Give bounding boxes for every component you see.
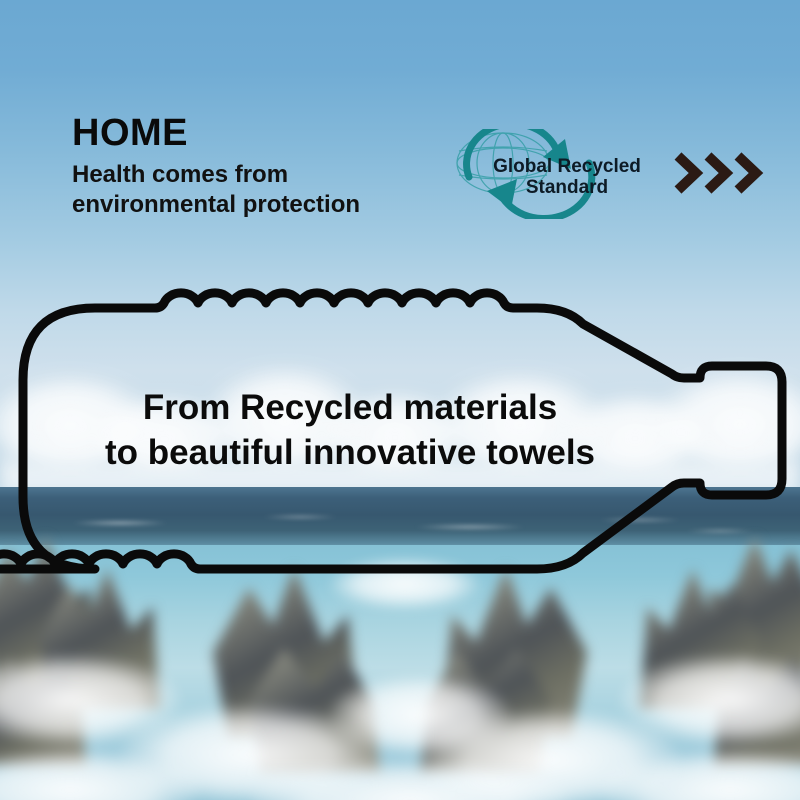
rock-formations — [0, 545, 800, 800]
grs-certification-logo: Global Recycled Standard — [447, 129, 657, 219]
subtitle-line-1: Health comes from — [72, 161, 288, 188]
grs-logo-text: Global Recycled Standard — [477, 157, 657, 198]
page-subtitle: Health comes from environmental protecti… — [72, 160, 360, 220]
page-title: HOME — [72, 114, 360, 152]
grs-text-line-2: Standard — [526, 177, 608, 198]
bottle-headline-line-1: From Recycled materials — [143, 388, 557, 427]
bottle-headline-line-2: to beautiful innovative towels — [0, 431, 700, 476]
subtitle-line-2: environmental protection — [72, 191, 360, 218]
triple-chevron-right-icon — [672, 150, 764, 196]
banner-canvas: HOME Health comes from environmental pro… — [0, 0, 800, 800]
bottle-headline: From Recycled materials to beautiful inn… — [0, 386, 700, 476]
grs-text-line-1: Global Recycled — [493, 156, 641, 177]
header-text-block: HOME Health comes from environmental pro… — [72, 114, 360, 220]
